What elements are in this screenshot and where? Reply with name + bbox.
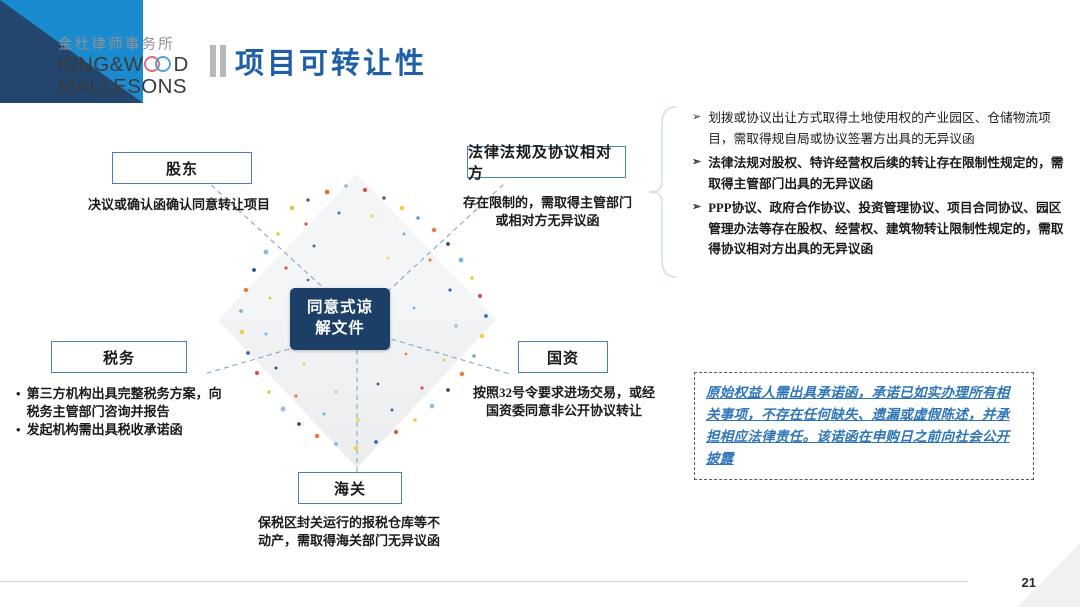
node-box-state-assets[interactable]: 国资: [518, 341, 608, 373]
node-box-laws-counterparty[interactable]: 法律法规及协议相对方: [467, 146, 626, 178]
diagram-center-label: 同意式谅 解文件: [290, 288, 390, 350]
node-box-customs[interactable]: 海关: [298, 472, 402, 504]
node-desc-laws-counterparty: 存在限制的，需取得主管部门 或相对方无异议函: [460, 194, 635, 229]
callout-box: 原始权益人需出具承诺函，承诺已如实办理所有相关事项，不存在任何缺失、遗漏或虚假陈…: [694, 372, 1034, 480]
node-box-tax[interactable]: 税务: [51, 341, 187, 373]
bullet-text: PPP协议、政府合作协议、投资管理协议、项目合同协议、园区管理办法等存在股权、经…: [708, 198, 1070, 260]
bullet-text: 第三方机构出具完整税务方案，向税务主管部门咨询并报告: [27, 385, 228, 420]
slide-canvas: 金杜律师事务所 KING&WD MALLESONS 项目可转让性: [0, 0, 1080, 607]
node-desc-state-line2: 国资委同意非公开协议转让: [464, 402, 664, 420]
node-label-state-assets: 国资: [547, 347, 579, 368]
logo-en-line1-text: KING&W: [58, 53, 144, 76]
footer-divider: [0, 581, 968, 583]
bullet-text: 划拨或协议出让方式取得土地使用权的产业园区、仓储物流项目，需取得规自局或协议签署…: [708, 108, 1070, 149]
center-label-line1: 同意式谅: [307, 298, 373, 319]
title-bars-icon: [210, 45, 226, 77]
node-desc-shareholder: 决议或确认函确认同意转让项目: [88, 196, 338, 214]
callout-text: 原始权益人需出具承诺函，承诺已如实办理所有相关事项，不存在任何缺失、遗漏或虚假陈…: [706, 382, 1022, 469]
node-desc-customs-line2: 动产，需取得海关部门无异议函: [249, 532, 449, 550]
node-label-laws-counterparty: 法律法规及协议相对方: [468, 141, 625, 183]
bullet-text: 法律法规对股权、特许经营权后续的转让存在限制性规定的，需取得主管部门出具的无异议…: [708, 153, 1070, 194]
arrow-bullet-icon: ➢: [692, 198, 701, 260]
list-item: ➢ 划拨或协议出让方式取得土地使用权的产业园区、仓储物流项目，需取得规自局或协议…: [692, 108, 1070, 149]
bullet-marker: •: [16, 421, 21, 439]
logo-en-line1-tail: D: [174, 53, 189, 76]
list-item: ➢ 法律法规对股权、特许经营权后续的转让存在限制性规定的，需取得主管部门出具的无…: [692, 153, 1070, 194]
node-desc-customs-line1: 保税区封关运行的报税仓库等不: [249, 514, 449, 532]
node-desc-state-line1: 按照32号令要求进场交易，或经: [464, 384, 664, 402]
list-item: ➢ PPP协议、政府合作协议、投资管理协议、项目合同协议、园区管理办法等存在股权…: [692, 198, 1070, 260]
node-box-shareholder[interactable]: 股东: [112, 152, 252, 184]
node-label-customs: 海关: [334, 478, 366, 499]
curly-brace-icon: [646, 104, 680, 280]
center-label-line2: 解文件: [315, 319, 365, 340]
bullet-text: 发起机构需出具税收承诺函: [27, 421, 183, 439]
node-bullets-tax: • 第三方机构出具完整税务方案，向税务主管部门咨询并报告 • 发起机构需出具税收…: [16, 385, 228, 440]
node-label-tax: 税务: [103, 347, 135, 368]
node-desc-laws-line2: 或相对方无异议函: [460, 212, 635, 230]
arrow-bullet-icon: ➢: [692, 108, 701, 149]
right-bullet-panel: ➢ 划拨或协议出让方式取得土地使用权的产业园区、仓储物流项目，需取得规自局或协议…: [692, 108, 1070, 264]
node-desc-laws-line1: 存在限制的，需取得主管部门: [460, 194, 635, 212]
arrow-bullet-icon: ➢: [692, 153, 701, 194]
node-label-shareholder: 股东: [166, 158, 198, 179]
page-title: 项目可转让性: [210, 40, 427, 82]
logo-double-o-icon: [144, 55, 174, 74]
node-desc-customs: 保税区封关运行的报税仓库等不 动产，需取得海关部门无异议函: [249, 514, 449, 549]
page-title-text: 项目可转让性: [235, 40, 427, 82]
node-desc-state-assets: 按照32号令要求进场交易，或经 国资委同意非公开协议转让: [464, 384, 664, 419]
list-item: • 发起机构需出具税收承诺函: [16, 421, 228, 439]
bullet-marker: •: [16, 385, 21, 420]
page-number: 21: [1022, 575, 1036, 590]
list-item: • 第三方机构出具完整税务方案，向税务主管部门咨询并报告: [16, 385, 228, 420]
